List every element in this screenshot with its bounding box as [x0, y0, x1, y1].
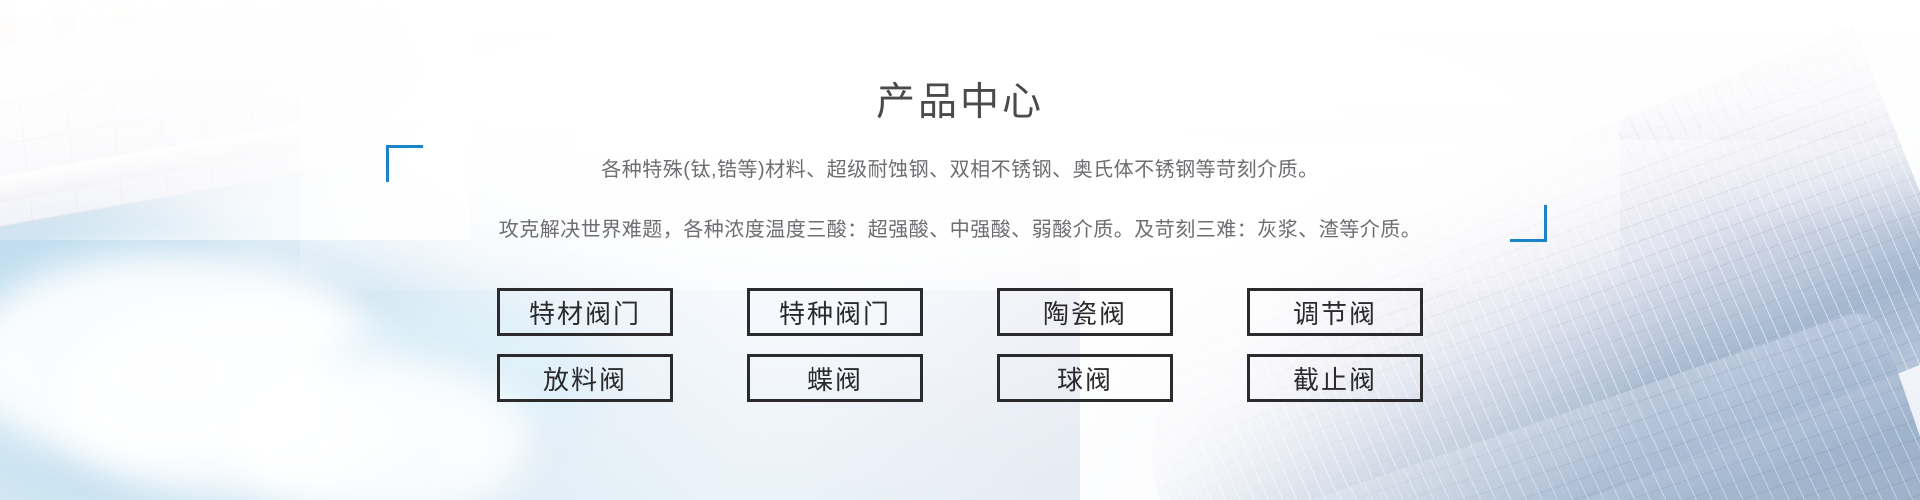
- category-tag-jiezhi-fa[interactable]: 截止阀: [1247, 354, 1423, 402]
- category-tag-die-fa[interactable]: 蝶阀: [747, 354, 923, 402]
- product-category-grid: 特材阀门 特种阀门 陶瓷阀 调节阀 放料阀 蝶阀 球阀 截止阀: [0, 288, 1920, 402]
- category-tag-qiu-fa[interactable]: 球阀: [997, 354, 1173, 402]
- category-tag-taoci-fa[interactable]: 陶瓷阀: [997, 288, 1173, 336]
- category-tag-tezhong-famen[interactable]: 特种阀门: [747, 288, 923, 336]
- description-block: 各种特殊(钛,锆等)材料、超级耐蚀钢、双相不锈钢、奥氏体不锈钢等苛刻介质。 攻克…: [380, 140, 1540, 250]
- description-line-1: 各种特殊(钛,锆等)材料、超级耐蚀钢、双相不锈钢、奥氏体不锈钢等苛刻介质。: [380, 150, 1540, 190]
- category-tag-tecai-famen[interactable]: 特材阀门: [497, 288, 673, 336]
- product-category-row-2: 放料阀 蝶阀 球阀 截止阀: [497, 354, 1423, 402]
- product-center-banner: 产品中心 各种特殊(钛,锆等)材料、超级耐蚀钢、双相不锈钢、奥氏体不锈钢等苛刻介…: [0, 0, 1920, 500]
- category-tag-tiaojie-fa[interactable]: 调节阀: [1247, 288, 1423, 336]
- description-line-2: 攻克解决世界难题，各种浓度温度三酸：超强酸、中强酸、弱酸介质。及苛刻三难：灰浆、…: [380, 210, 1540, 250]
- product-category-row-1: 特材阀门 特种阀门 陶瓷阀 调节阀: [497, 288, 1423, 336]
- category-tag-fangliao-fa[interactable]: 放料阀: [497, 354, 673, 402]
- page-title: 产品中心: [0, 78, 1920, 128]
